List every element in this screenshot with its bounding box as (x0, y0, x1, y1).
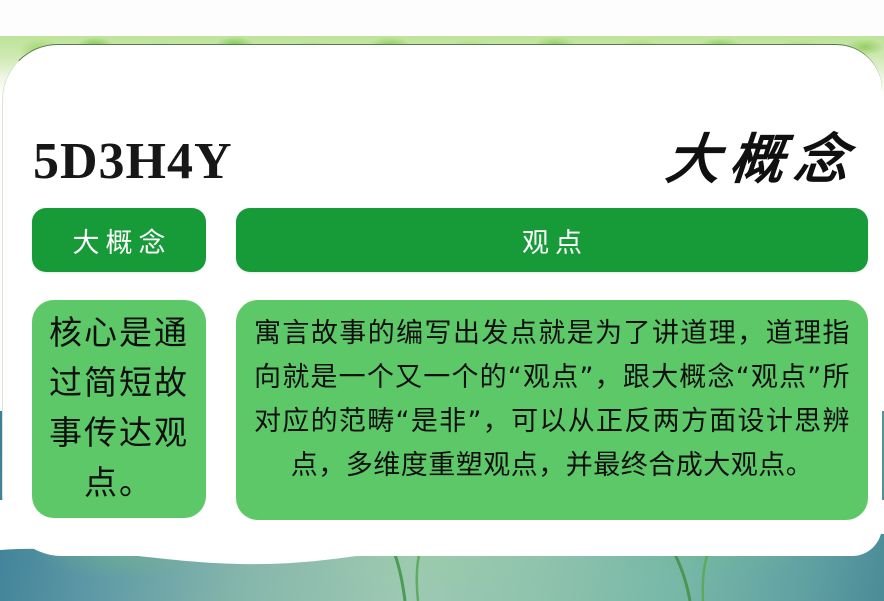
tab-viewpoint[interactable]: 观点 (236, 208, 868, 272)
tab-big-concept[interactable]: 大概念 (32, 208, 206, 272)
right-content-text: 寓言故事的编写出发点就是为了讲道理，道理指向就是一个又一个的“观点”，跟大概念“… (236, 312, 868, 488)
page-title: 大概念 (664, 132, 861, 186)
document-code: 5D3H4Y (33, 136, 233, 188)
left-content-text: 核心是通过简短故事传达观点。 (32, 308, 206, 508)
card-header: 5D3H4Y 大概念 (0, 44, 884, 184)
slide-canvas: 5D3H4Y 大概念 大概念 观点 核心是通过简短故事传达观点。 寓言故事的编写… (0, 0, 884, 601)
top-white-strip (0, 0, 884, 39)
